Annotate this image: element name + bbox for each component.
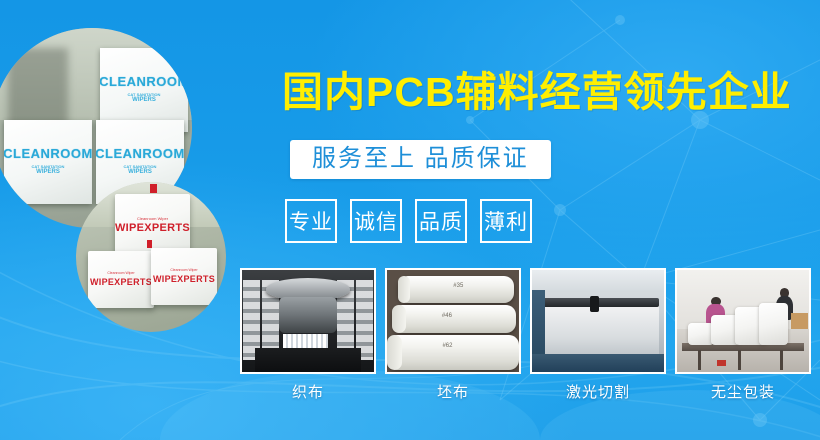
package-brand-label: WIPEXPERTS <box>153 275 215 284</box>
process-step-cleanroom-packaging[interactable]: 无尘包装 <box>675 268 811 402</box>
thumbnail-knitting-machine[interactable] <box>240 268 376 374</box>
thumbnail-fabric-rolls[interactable]: #35 #46 #62 <box>385 268 521 374</box>
banner-headline: 国内PCB辅料经营领先企业 <box>282 72 792 113</box>
package-brand-label: CLEANROOM <box>100 75 188 88</box>
package-brand-label: WIPEXPERTS <box>90 278 152 287</box>
subtitle-bar: 服务至上 品质保证 <box>290 140 551 179</box>
process-step-caption: 无尘包装 <box>675 381 811 402</box>
package-brand-label: CLEANROOM <box>4 147 92 160</box>
product-photo-wipexperts: Cleanroom Wiper WIPEXPERTS Cleanroom Wip… <box>76 182 226 332</box>
feature-tag-professional[interactable]: 专业 <box>285 199 337 243</box>
thumbnail-packaging-room[interactable] <box>675 268 811 374</box>
package-sub-line-2: WIPERS <box>132 97 156 105</box>
wipexperts-package: Cleanroom Wiper WIPEXPERTS <box>88 251 154 308</box>
wipexperts-scene: Cleanroom Wiper WIPEXPERTS Cleanroom Wip… <box>76 182 226 332</box>
feature-tag-list: 专业 诚信 品质 薄利 <box>285 199 532 243</box>
feature-tag-integrity[interactable]: 诚信 <box>350 199 402 243</box>
package-top-line: Cleanroom Wiper <box>137 217 168 221</box>
wipexperts-package: Cleanroom Wiper WIPEXPERTS <box>151 248 217 305</box>
feature-tag-low-profit[interactable]: 薄利 <box>480 199 532 243</box>
process-step-caption: 坯布 <box>385 381 521 402</box>
thumbnail-laser-cutter[interactable] <box>530 268 666 374</box>
package-brand-label: WIPEXPERTS <box>115 223 190 234</box>
package-top-line: Cleanroom Wiper <box>107 272 134 276</box>
promo-banner: CLEANROOM CAT SANITATION WIPERS CLEANROO… <box>0 0 820 440</box>
feature-tag-quality[interactable]: 品质 <box>415 199 467 243</box>
package-sub-line-2: WIPERS <box>128 169 152 177</box>
process-step-greige-fabric[interactable]: #35 #46 #62 坯布 <box>385 268 521 402</box>
process-thumbnail-list: 织布 #35 #46 #62 坯布 <box>240 268 811 402</box>
subtitle-text: 服务至上 品质保证 <box>312 145 529 173</box>
package-sub-line-2: WIPERS <box>36 169 60 177</box>
process-step-caption: 织布 <box>240 381 376 402</box>
process-step-laser-cutting[interactable]: 激光切割 <box>530 268 666 402</box>
package-top-line: Cleanroom Wiper <box>170 269 197 273</box>
package-brand-label: CLEANROOM <box>96 147 184 160</box>
process-step-weaving[interactable]: 织布 <box>240 268 376 402</box>
process-step-caption: 激光切割 <box>530 381 666 402</box>
